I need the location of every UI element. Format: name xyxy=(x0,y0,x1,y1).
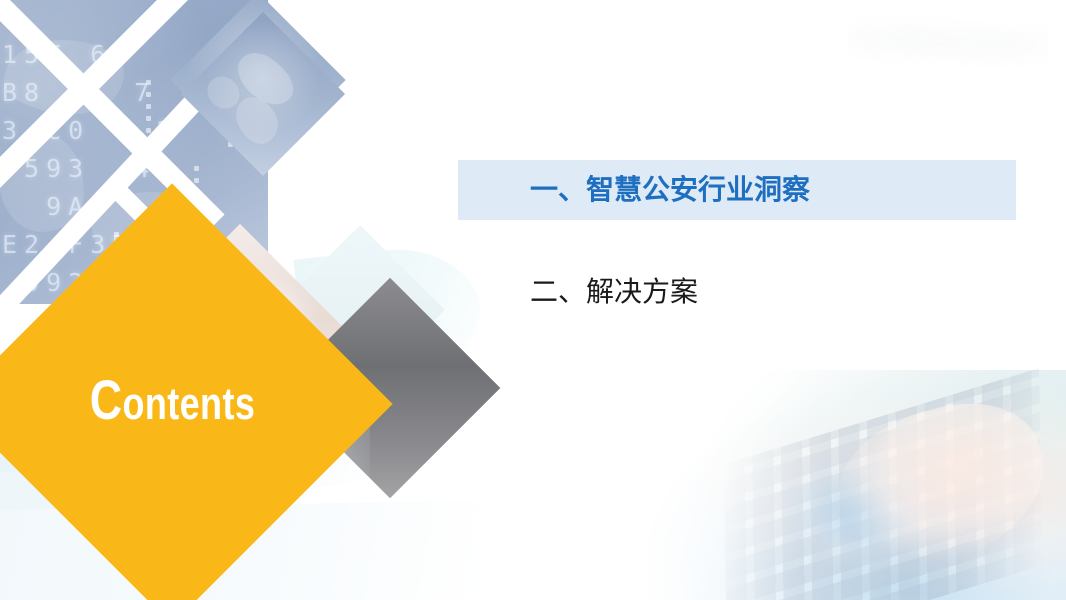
presentation-slide: 15F 60 B8 C 7 3 C0 2 593 4 9A 5 E2 F3D0 … xyxy=(0,0,1066,600)
toc-item-1-label: 一、智慧公安行业洞察 xyxy=(530,176,810,204)
keyboard-photo xyxy=(636,370,1066,600)
toc-item-1[interactable]: 一、智慧公安行业洞察 xyxy=(458,160,1016,220)
data-dot-column xyxy=(228,106,233,154)
toc-item-2[interactable]: 二、解决方案 xyxy=(458,262,1016,322)
contents-text: Contents xyxy=(89,378,255,430)
toc-item-2-label: 二、解决方案 xyxy=(530,278,698,306)
contents-badge-label: Contents xyxy=(16,248,328,560)
world-map-diamond xyxy=(181,12,345,176)
white-slash xyxy=(0,0,248,237)
data-dot-column xyxy=(146,80,151,176)
white-slash xyxy=(0,0,225,230)
keyboard-keys xyxy=(723,368,1042,600)
table-of-contents: 一、智慧公安行业洞察 二、解决方案 xyxy=(458,160,1016,322)
data-dot-column xyxy=(194,166,199,238)
typing-hand xyxy=(821,387,1061,583)
keyboard-glow xyxy=(776,450,946,570)
watermark-logo xyxy=(848,12,1048,72)
network-diamond xyxy=(170,0,345,168)
